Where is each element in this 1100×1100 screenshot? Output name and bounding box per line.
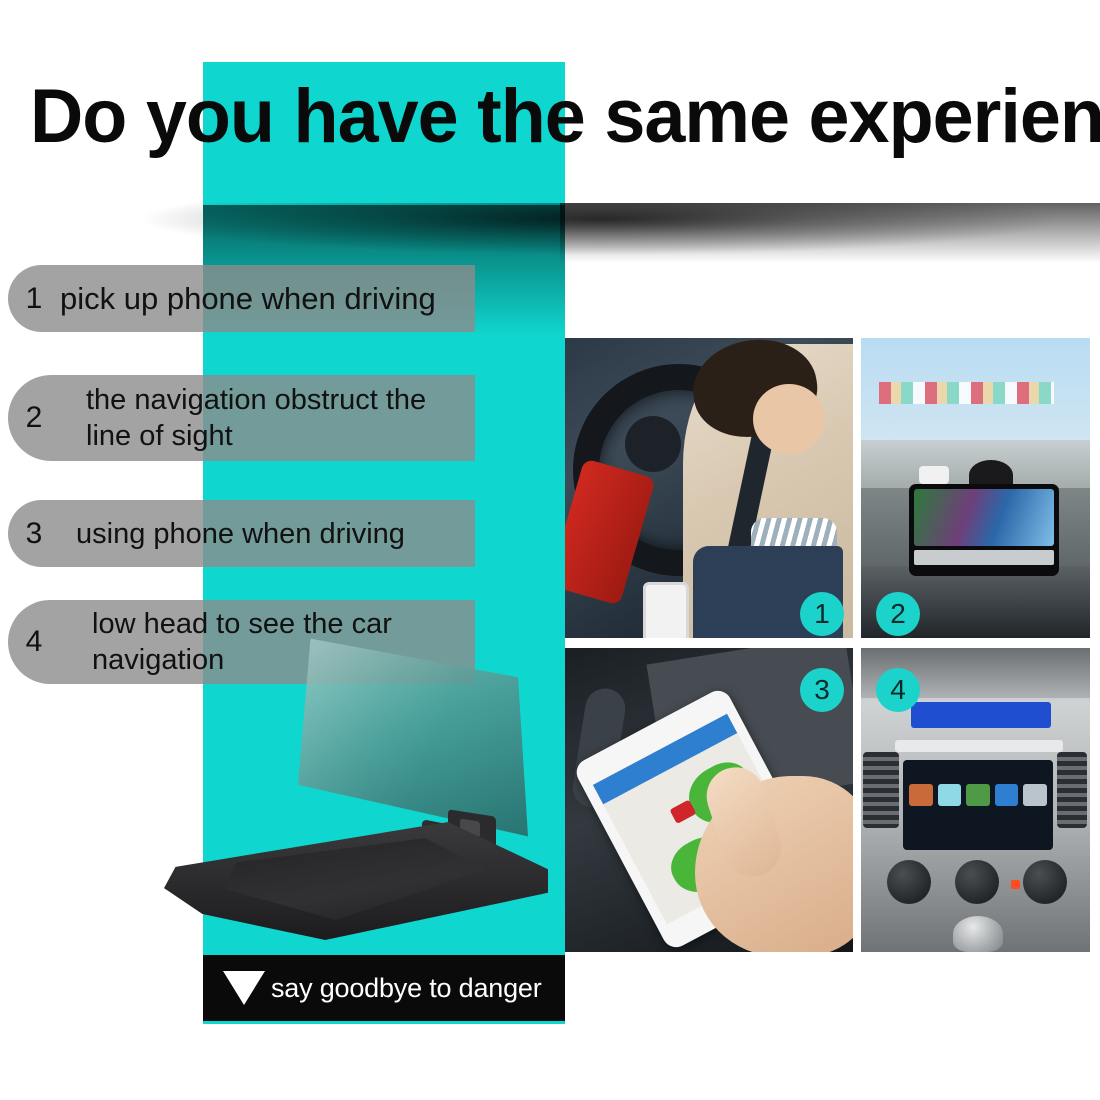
photo-4-icon-d bbox=[995, 784, 1019, 806]
photo-4-icon-c bbox=[966, 784, 990, 806]
tagline-banner: say goodbye to danger bbox=[203, 955, 565, 1021]
photo-4-cd-slot bbox=[895, 740, 1063, 752]
photo-4-info-lcd bbox=[911, 702, 1051, 728]
photo-1-smartphone bbox=[643, 582, 689, 638]
product-image-hud-holder bbox=[160, 630, 560, 950]
photo-2-gps-screen bbox=[914, 489, 1054, 546]
problem-item-3: 3 using phone when driving bbox=[8, 500, 475, 567]
photo-4-air-vent-left bbox=[863, 752, 899, 828]
photo-badge-1: 1 bbox=[800, 592, 844, 636]
photo-2-car-a bbox=[919, 466, 949, 484]
tagline-text: say goodbye to danger bbox=[271, 973, 542, 1003]
photo-4-icon-a bbox=[909, 784, 933, 806]
problem-item-2: 2 the navigation obstruct the line of si… bbox=[8, 375, 475, 461]
problem-item-1: 1 pick up phone when driving bbox=[8, 265, 475, 332]
photo-2-billboards bbox=[879, 382, 1054, 404]
photo-1-driver-on-phone bbox=[565, 338, 853, 638]
problem-text-3: using phone when driving bbox=[60, 516, 415, 552]
photo-4-climate-knobs bbox=[887, 860, 1067, 916]
problem-number-4: 4 bbox=[8, 625, 60, 659]
problem-text-2: the navigation obstruct the line of sigh… bbox=[60, 382, 475, 454]
problem-number-1: 1 bbox=[8, 282, 60, 316]
photo-4-indicator-led bbox=[1011, 880, 1020, 889]
photo-badge-3: 3 bbox=[800, 668, 844, 712]
photo-4-navigation-screen bbox=[903, 760, 1053, 850]
photo-4-icon-b bbox=[938, 784, 962, 806]
photo-1-wheel-hub bbox=[625, 416, 681, 472]
photo-4-air-vent-right bbox=[1057, 752, 1087, 828]
photo-4-knob-center bbox=[955, 860, 999, 904]
photo-badge-4: 4 bbox=[876, 668, 920, 712]
photo-4-screen-icons bbox=[909, 784, 1047, 806]
header-drop-shadow-right bbox=[560, 203, 1100, 263]
problem-photo-grid bbox=[565, 338, 1090, 952]
chevron-down-icon bbox=[221, 971, 267, 1005]
photo-4-gear-lever bbox=[953, 916, 1003, 952]
photo-4-knob-left bbox=[887, 860, 931, 904]
photo-1-driver-face bbox=[753, 384, 825, 454]
problem-number-3: 3 bbox=[8, 517, 60, 551]
product-infographic-poster: Do you have the same experience 1 pick u… bbox=[0, 0, 1100, 1100]
problem-text-1: pick up phone when driving bbox=[60, 281, 446, 317]
photo-4-icon-e bbox=[1023, 784, 1047, 806]
hud-reflector-highlight bbox=[278, 630, 528, 845]
photo-4-knob-right bbox=[1023, 860, 1067, 904]
photo-2-gps-buttons bbox=[914, 550, 1054, 565]
problem-number-2: 2 bbox=[8, 401, 60, 435]
photo-badge-2: 2 bbox=[876, 592, 920, 636]
page-title: Do you have the same experience bbox=[30, 72, 1058, 162]
photo-2-gps-navigator bbox=[909, 484, 1059, 576]
